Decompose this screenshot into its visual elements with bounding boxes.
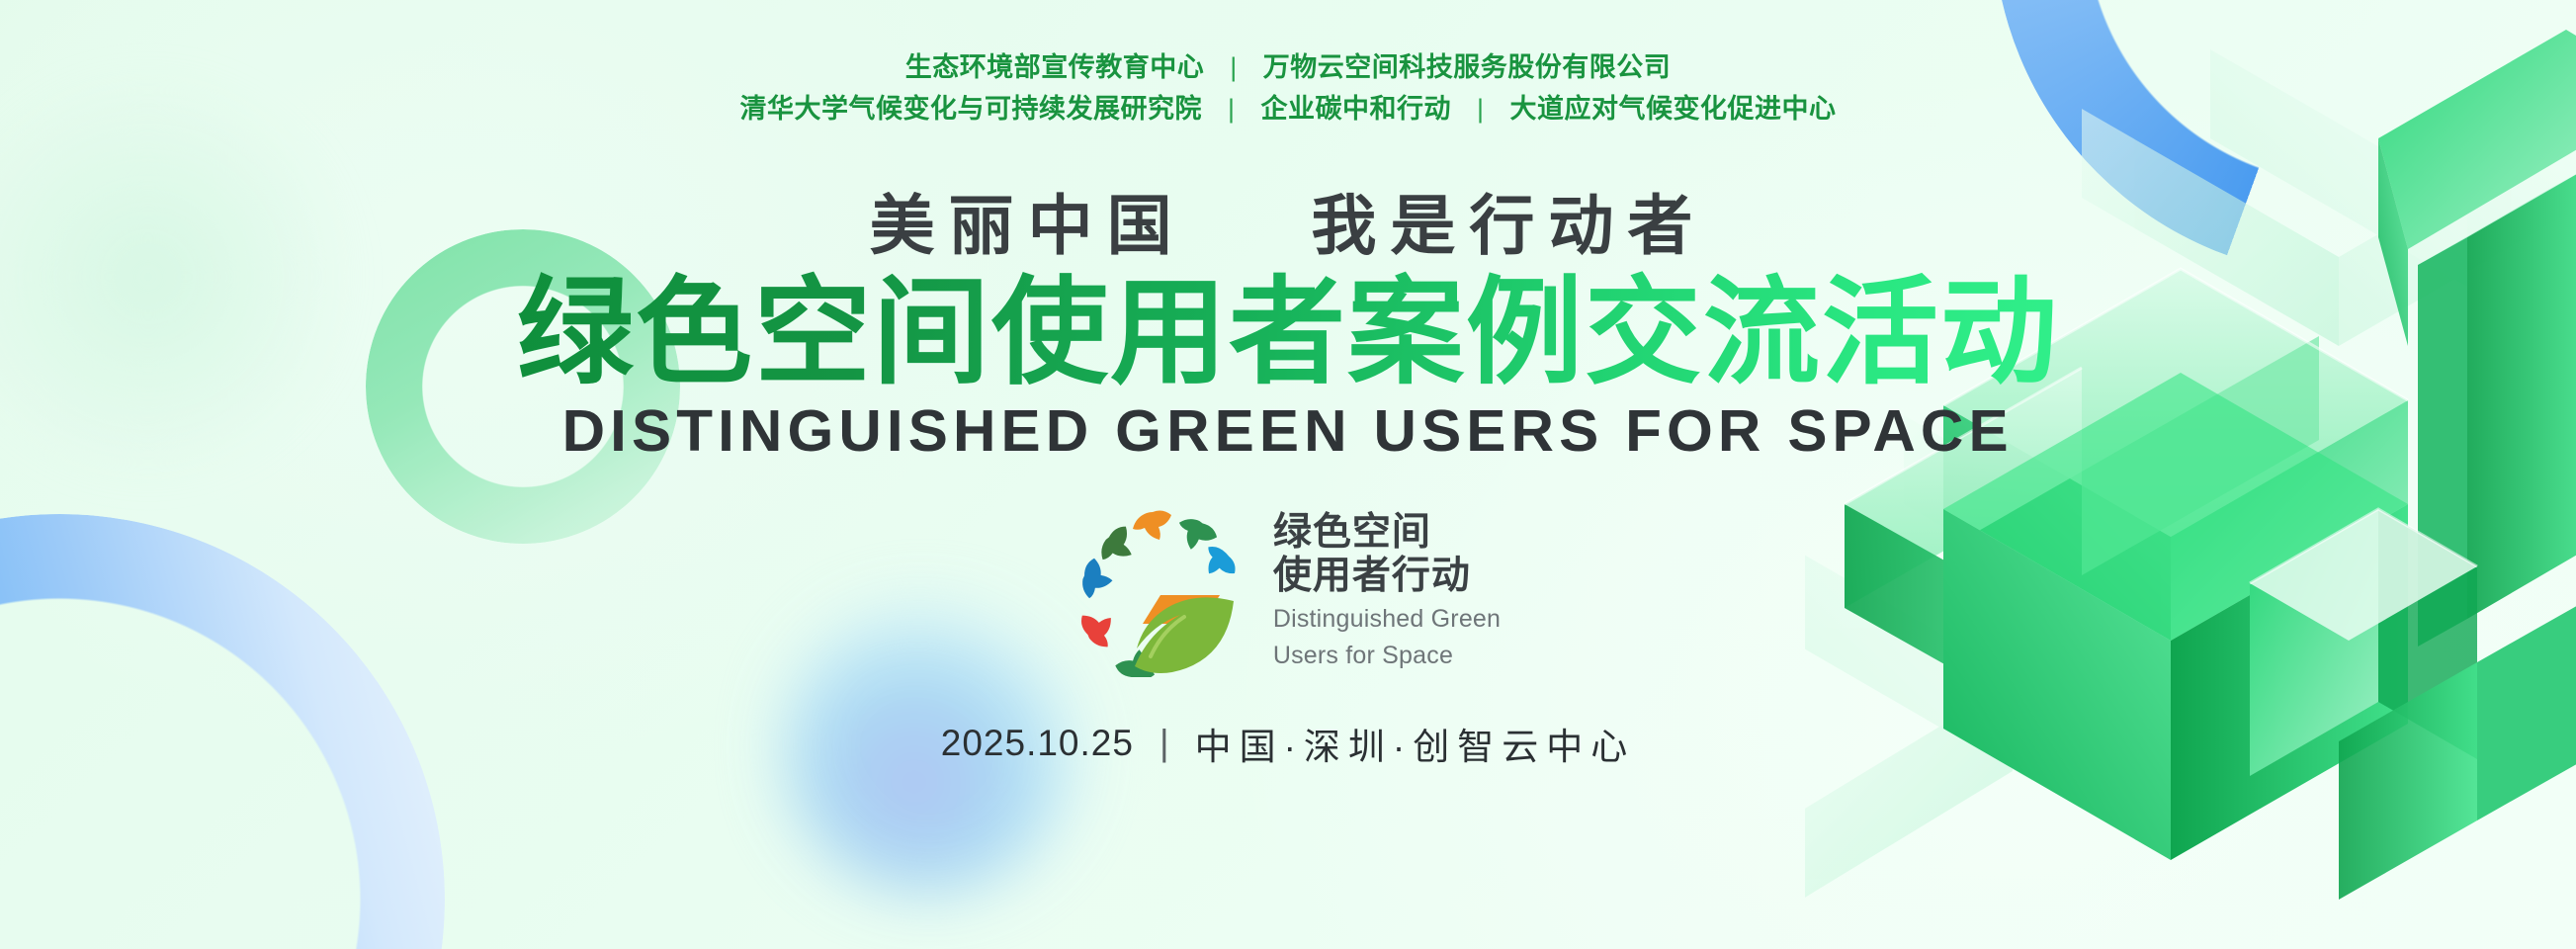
footer-separator: |: [1134, 723, 1195, 764]
event-date: 2025.10.25: [941, 723, 1134, 764]
logo-cn-line-2: 使用者行动: [1273, 555, 1501, 598]
logo-cn-line-1: 绿色空间: [1273, 511, 1501, 555]
green-space-users-logo-mark: [1075, 504, 1251, 677]
logo-en-line-2: Users for Space: [1273, 641, 1501, 670]
organizer-2: 万物云空间科技服务股份有限公司: [1263, 52, 1672, 82]
slogan-part-left: 美丽中国: [870, 189, 1186, 262]
organizer-4: 企业碳中和行动: [1261, 94, 1452, 124]
organizer-3: 清华大学气候变化与可持续发展研究院: [739, 94, 1202, 124]
organizer-line-1: 生态环境部宣传教育中心 | 万物云空间科技服务股份有限公司: [739, 47, 1836, 89]
slogan-part-right: 我是行动者: [1311, 189, 1706, 262]
event-logo: 绿色空间 使用者行动 Distinguished Green Users for…: [1075, 504, 1501, 677]
event-venue: 中国·深圳·创智云中心: [1195, 717, 1636, 770]
banner-content: 生态环境部宣传教育中心 | 万物云空间科技服务股份有限公司 清华大学气候变化与可…: [0, 0, 2576, 949]
organizer-separator: |: [1210, 89, 1253, 130]
campaign-slogan: 美丽中国 我是行动者: [870, 193, 1707, 258]
organizer-line-2: 清华大学气候变化与可持续发展研究院 | 企业碳中和行动 | 大道应对气候变化促进…: [739, 89, 1836, 130]
event-details: 2025.10.25 | 中国·深圳·创智云中心: [941, 717, 1635, 770]
organizer-1: 生态环境部宣传教育中心: [905, 52, 1205, 82]
organizers-block: 生态环境部宣传教育中心 | 万物云空间科技服务股份有限公司 清华大学气候变化与可…: [739, 47, 1836, 130]
organizer-separator: |: [1212, 47, 1255, 89]
logo-text-block: 绿色空间 使用者行动 Distinguished Green Users for…: [1273, 511, 1501, 670]
page-title: 绿色空间使用者案例交流活动: [517, 271, 2059, 396]
page-title-english: DISTINGUISHED GREEN USERS FOR SPACE: [562, 402, 2014, 461]
organizer-5: 大道应对气候变化促进中心: [1510, 94, 1837, 124]
organizer-separator: |: [1459, 89, 1503, 130]
event-banner: 生态环境部宣传教育中心 | 万物云空间科技服务股份有限公司 清华大学气候变化与可…: [0, 0, 2576, 949]
logo-en-line-1: Distinguished Green: [1273, 604, 1501, 634]
